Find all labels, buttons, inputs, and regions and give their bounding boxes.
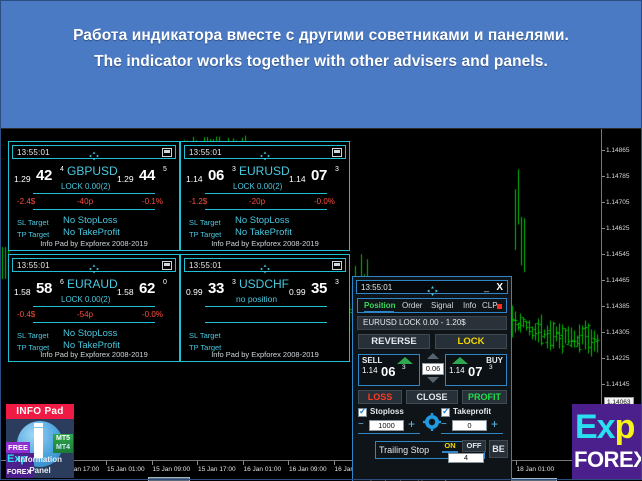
infopad-titlebar[interactable]: 13:55:01 bbox=[184, 145, 346, 159]
vtp-titlebar[interactable]: 13:55:01 _ X bbox=[356, 280, 508, 294]
profit-points: -20p bbox=[249, 197, 265, 206]
profit-percent: -0.0% bbox=[142, 310, 163, 319]
stoploss-label: Stoploss bbox=[370, 407, 404, 416]
bid-integer: 1.58 bbox=[14, 287, 31, 297]
tab-signal[interactable]: Signal bbox=[431, 301, 453, 310]
infopad-titlebar[interactable]: 13:55:01 bbox=[12, 258, 176, 272]
profit-points: -40p bbox=[77, 197, 93, 206]
profit-money: -1.2$ bbox=[189, 197, 207, 206]
bid-point: 3 bbox=[232, 279, 236, 286]
close-button[interactable]: CLOSE bbox=[406, 390, 458, 404]
divider-bottom bbox=[33, 209, 155, 210]
infopad-footer: Info Pad by Expforex 2008-2019 bbox=[9, 239, 179, 248]
buy-price-int: 1.14 bbox=[449, 366, 465, 375]
ask-figure: 35 bbox=[311, 280, 327, 297]
profit-button[interactable]: PROFIT bbox=[462, 390, 507, 404]
bid-figure: 42 bbox=[36, 167, 52, 184]
tp-target-value: No TakeProfit bbox=[63, 227, 120, 238]
time-tick: 16 Jan 01:00 bbox=[244, 466, 282, 473]
mt4-label: MT4 bbox=[53, 443, 73, 452]
tp-target-value: No TakeProfit bbox=[235, 227, 292, 238]
takeprofit-plus-button[interactable]: + bbox=[491, 418, 498, 430]
takeprofit-label: Takeprofit bbox=[453, 407, 491, 416]
time-tick: 15 Jan 01:00 bbox=[107, 466, 145, 473]
vtp-tabbar[interactable]: Position Order Signal Info CLP bbox=[357, 298, 507, 313]
banner-title-ru: Работа индикатора вместе с другими совет… bbox=[0, 27, 642, 45]
buy-up-arrow-icon bbox=[452, 357, 468, 364]
buy-panel[interactable]: BUY 1.14 07 3 bbox=[445, 354, 507, 386]
lock-status: LOCK 0.00(2) bbox=[233, 182, 282, 191]
takeprofit-input[interactable]: 0 bbox=[452, 420, 487, 431]
lot-increase-arrow[interactable] bbox=[427, 353, 439, 359]
bid-figure: 58 bbox=[36, 280, 52, 297]
trailing-off-button[interactable]: OFF bbox=[462, 440, 486, 452]
bid-figure: 06 bbox=[208, 167, 224, 184]
header-banner: Работа индикатора вместе с другими совет… bbox=[0, 0, 642, 128]
lock-status: LOCK 0.00(2) bbox=[61, 295, 110, 304]
loss-button[interactable]: LOSS bbox=[358, 390, 402, 404]
lock-button[interactable]: LOCK bbox=[435, 334, 507, 349]
infopad-caption-line2: Panel bbox=[6, 465, 74, 476]
bid-point: 4 bbox=[60, 166, 64, 173]
profit-percent: -0.1% bbox=[142, 197, 163, 206]
infopad-clock: 13:55:01 bbox=[189, 148, 222, 157]
banner-title-en: The indicator works together with other … bbox=[0, 53, 642, 71]
bid-figure: 33 bbox=[208, 280, 224, 297]
ask-integer: 1.14 bbox=[289, 174, 306, 184]
infopad-body: 0.99333USDCHF0.99353no positionSL Target… bbox=[181, 275, 349, 361]
infopad-logo-band: INFO Pad bbox=[6, 404, 74, 419]
sl-target-value: No StopLoss bbox=[235, 215, 289, 226]
sl-target-value: No StopLoss bbox=[63, 328, 117, 339]
price-tick: 1.14705 bbox=[606, 199, 630, 206]
expforex-forex-text: FOREX bbox=[574, 448, 642, 472]
move-crosshair-icon[interactable] bbox=[260, 261, 270, 271]
ask-point: 3 bbox=[335, 166, 339, 173]
infopad-gbpusd[interactable]: 13:55:011.29424GBPUSD1.29445LOCK 0.00(2)… bbox=[8, 141, 180, 251]
expforex-logo: Exp FOREX bbox=[572, 404, 642, 480]
sl-target-value: No StopLoss bbox=[63, 215, 117, 226]
infopad-footer: Info Pad by Expforex 2008-2019 bbox=[181, 239, 349, 248]
tp-target-label: TP Target bbox=[189, 230, 221, 239]
ask-integer: 1.58 bbox=[117, 287, 134, 297]
vtp-clock: 13:55:01 bbox=[361, 283, 392, 292]
tab-position[interactable]: Position bbox=[364, 301, 396, 310]
clp-status-dot bbox=[497, 304, 502, 309]
bid-integer: 0.99 bbox=[186, 287, 203, 297]
price-tick: 1.14785 bbox=[606, 173, 630, 180]
ask-point: 0 bbox=[163, 279, 167, 286]
infopad-euraud[interactable]: 13:55:011.58586EURAUD1.58620LOCK 0.00(2)… bbox=[8, 254, 180, 362]
profit-money: -2.4$ bbox=[17, 197, 35, 206]
tab-info[interactable]: Info bbox=[463, 301, 476, 310]
lot-decrease-arrow[interactable] bbox=[427, 377, 439, 383]
symbol-name: EURUSD bbox=[239, 164, 290, 178]
move-crosshair-icon[interactable] bbox=[89, 261, 99, 271]
infopad-clock: 13:55:01 bbox=[17, 261, 50, 270]
price-tick: 1.14545 bbox=[606, 251, 630, 258]
ask-figure: 44 bbox=[139, 167, 155, 184]
expforex-ex: Ex bbox=[575, 408, 615, 446]
stoploss-minus-button[interactable]: − bbox=[358, 420, 364, 430]
move-crosshair-icon[interactable] bbox=[260, 148, 270, 158]
mt5-label: MT5 bbox=[53, 434, 73, 443]
profit-points: -54p bbox=[77, 310, 93, 319]
expforex-p: p bbox=[615, 408, 635, 446]
sl-target-label: SL Target bbox=[189, 331, 221, 340]
stoploss-group[interactable]: Stoploss − 1000 + bbox=[358, 408, 424, 434]
divider-top bbox=[205, 306, 327, 307]
vtp-status-bar: EURUSD LOCK 0.00 - 1.20$ bbox=[357, 316, 507, 330]
tp-target-label: TP Target bbox=[17, 230, 49, 239]
lot-size-input[interactable]: 0.06 bbox=[422, 363, 444, 375]
sl-target-label: SL Target bbox=[189, 218, 221, 227]
takeprofit-group[interactable]: Takeprofit − 0 + bbox=[441, 408, 507, 434]
ask-figure: 62 bbox=[139, 280, 155, 297]
sell-price-int: 1.14 bbox=[362, 366, 378, 375]
infopad-footer: Info Pad by Expforex 2008-2019 bbox=[9, 350, 179, 359]
trailing-stop-label: Trailing Stop bbox=[379, 445, 429, 455]
free-badge: FREE bbox=[6, 442, 30, 453]
buy-order-badge[interactable]: BUY bbox=[148, 477, 190, 481]
infopad-logo-title: INFO Pad bbox=[6, 404, 74, 419]
free-label: FREE bbox=[6, 442, 30, 453]
takeprofit-checkbox[interactable] bbox=[441, 408, 450, 417]
divider-bottom bbox=[205, 209, 327, 210]
divider-top bbox=[205, 193, 327, 194]
tab-clp[interactable]: CLP bbox=[482, 301, 498, 310]
ask-integer: 1.29 bbox=[117, 174, 134, 184]
breakeven-button[interactable]: BE bbox=[489, 440, 508, 458]
infopad-clock: 13:55:01 bbox=[189, 261, 222, 270]
info-i-dot bbox=[34, 423, 43, 427]
lock-status: LOCK 0.00(2) bbox=[61, 182, 110, 191]
buy-price-sup: 3 bbox=[489, 364, 493, 371]
bid-integer: 1.29 bbox=[14, 174, 31, 184]
divider-top bbox=[33, 306, 155, 307]
buy-price-big: 07 bbox=[468, 364, 482, 379]
sell-price-sup: 3 bbox=[402, 364, 406, 371]
infopad-titlebar[interactable]: 13:55:01 bbox=[184, 258, 346, 272]
infopad-clock: 13:55:01 bbox=[17, 148, 50, 157]
stoploss-checkbox[interactable] bbox=[358, 408, 367, 417]
expforex-exp-text: Exp bbox=[575, 410, 634, 444]
sell-label: SELL bbox=[362, 356, 382, 365]
close-icon[interactable]: X bbox=[496, 282, 503, 293]
infopad-titlebar[interactable]: 13:55:01 bbox=[12, 145, 176, 159]
time-tick: 15 Jan 09:00 bbox=[153, 466, 191, 473]
ask-integer: 0.99 bbox=[289, 287, 306, 297]
stoploss-plus-button[interactable]: + bbox=[408, 418, 415, 430]
price-tick: 1.14305 bbox=[606, 329, 630, 336]
price-tick: 1.14225 bbox=[606, 355, 630, 362]
sell-panel[interactable]: SELL 1.14 06 3 bbox=[358, 354, 420, 386]
price-tick: 1.14385 bbox=[606, 303, 630, 310]
price-tick: 1.14625 bbox=[606, 225, 630, 232]
price-tick: 1.14145 bbox=[606, 381, 630, 388]
time-tick: 16 Jan 09:00 bbox=[289, 466, 327, 473]
mt4-chart-terminal[interactable]: 1.148651.147851.147051.146251.145451.144… bbox=[0, 128, 642, 481]
infopad-caption-line1: Information bbox=[6, 454, 74, 465]
reverse-button[interactable]: REVERSE bbox=[358, 334, 430, 349]
infopad-body: 1.29424GBPUSD1.29445LOCK 0.00(2)-2.4$-40… bbox=[9, 162, 179, 250]
minimize-icon[interactable]: _ bbox=[484, 283, 489, 292]
price-tick: 1.14865 bbox=[606, 147, 630, 154]
bid-point: 3 bbox=[232, 166, 236, 173]
divider-top bbox=[33, 193, 155, 194]
infopad-usdchf[interactable]: 13:55:010.99333USDCHF0.99353no positionS… bbox=[180, 254, 350, 362]
ask-figure: 07 bbox=[311, 167, 327, 184]
infopad-logo: INFO Pad MT5 MT4 FREE Exp FOREX Informat… bbox=[6, 404, 74, 478]
gear-icon[interactable] bbox=[423, 413, 441, 431]
sell-price-big: 06 bbox=[381, 364, 395, 379]
profit-money: -0.4$ bbox=[17, 310, 35, 319]
stoploss-input[interactable]: 1000 bbox=[369, 420, 404, 431]
time-tick: 15 Jan 17:00 bbox=[198, 466, 236, 473]
takeprofit-divider bbox=[441, 433, 503, 434]
divider-bottom bbox=[205, 322, 327, 323]
sl-target-label: SL Target bbox=[17, 331, 49, 340]
sell-up-arrow-icon bbox=[397, 357, 413, 364]
infopad-body: 1.14063EURUSD1.14073LOCK 0.00(2)-1.2$-20… bbox=[181, 162, 349, 250]
takeprofit-minus-button[interactable]: − bbox=[441, 420, 447, 430]
maximize-icon[interactable] bbox=[332, 261, 342, 270]
symbol-name: EURAUD bbox=[67, 277, 118, 291]
infopad-body: 1.58586EURAUD1.58620LOCK 0.00(2)-0.4$-54… bbox=[9, 275, 179, 361]
mt-version-badge: MT5 MT4 bbox=[53, 434, 73, 453]
ask-point: 3 bbox=[335, 279, 339, 286]
position-status: no position bbox=[236, 294, 277, 304]
maximize-icon[interactable] bbox=[332, 148, 342, 157]
infopad-eurusd[interactable]: 13:55:011.14063EURUSD1.14073LOCK 0.00(2)… bbox=[180, 141, 350, 251]
profit-percent: -0.0% bbox=[314, 197, 335, 206]
infopad-footer: Info Pad by Expforex 2008-2019 bbox=[181, 350, 349, 359]
maximize-icon[interactable] bbox=[162, 261, 172, 270]
divider-bottom bbox=[33, 322, 155, 323]
infopad-caption: Information Panel bbox=[6, 454, 74, 476]
symbol-name: USDCHF bbox=[239, 277, 289, 291]
active-tab-underline bbox=[364, 311, 394, 313]
time-tick: 18 Jan 01:00 bbox=[517, 466, 555, 473]
bid-point: 6 bbox=[60, 279, 64, 286]
bid-integer: 1.14 bbox=[186, 174, 203, 184]
move-crosshair-icon[interactable] bbox=[89, 148, 99, 158]
ask-point: 5 bbox=[163, 166, 167, 173]
trailing-value-input[interactable]: 4 bbox=[448, 453, 484, 463]
stoploss-divider bbox=[358, 433, 420, 434]
virtual-trade-pad[interactable]: 13:55:01 _ X Position Order Signal Info … bbox=[352, 276, 512, 481]
maximize-icon[interactable] bbox=[162, 148, 172, 157]
tab-order[interactable]: Order bbox=[402, 301, 422, 310]
sl-target-label: SL Target bbox=[17, 218, 49, 227]
price-tick: 1.14465 bbox=[606, 277, 630, 284]
symbol-name: GBPUSD bbox=[67, 164, 118, 178]
